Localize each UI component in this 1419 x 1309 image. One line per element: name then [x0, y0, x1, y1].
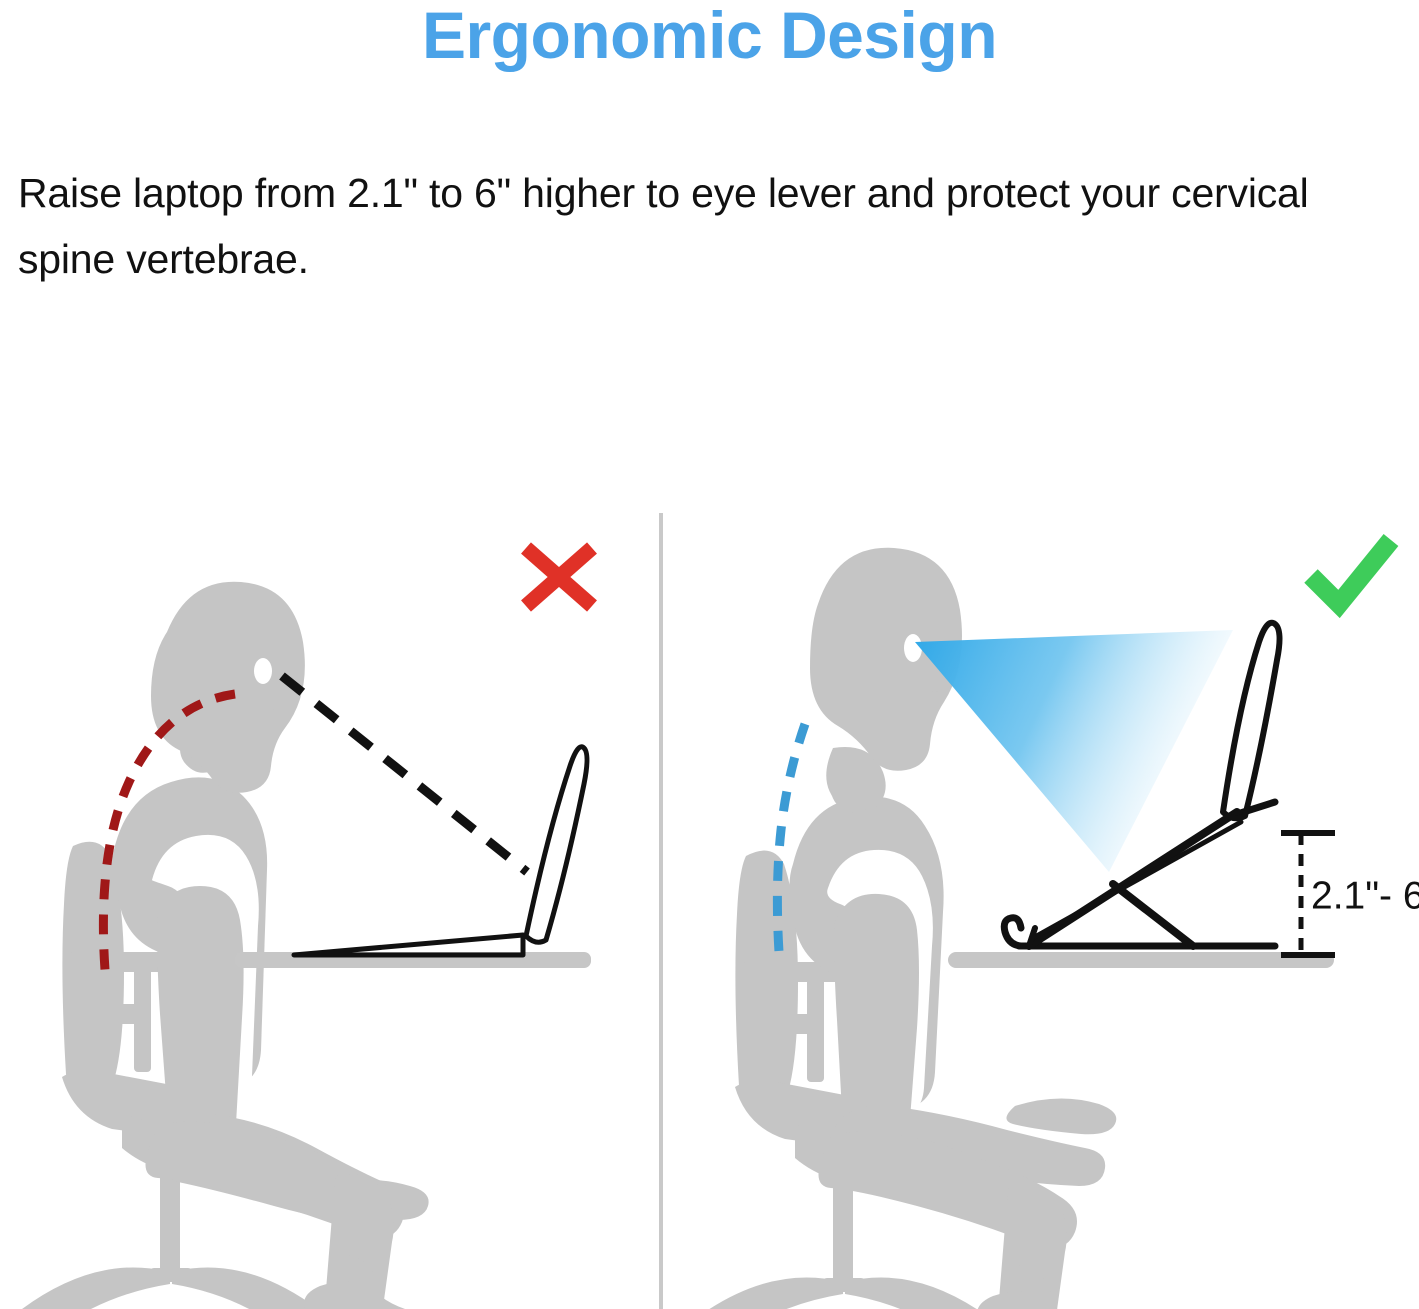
- panel-good-posture: 2.1"- 6": [663, 512, 1419, 1309]
- panel-bad-posture: [0, 512, 659, 1309]
- good-posture-illustration: 2.1"- 6": [663, 512, 1419, 1309]
- page-title: Ergonomic Design: [0, 2, 1419, 68]
- dimension-label: 2.1"- 6": [1311, 874, 1419, 917]
- bad-posture-illustration: [0, 512, 659, 1309]
- eye-bad: [254, 658, 272, 684]
- cross-icon: [514, 536, 604, 618]
- vision-cone: [915, 630, 1233, 872]
- description-text: Raise laptop from 2.1" to 6" higher to e…: [18, 160, 1398, 293]
- eye-good: [904, 634, 922, 662]
- ergonomic-design-infographic: Ergonomic Design Raise laptop from 2.1" …: [0, 0, 1419, 1309]
- desk-surface-good: [948, 952, 1334, 968]
- sight-line-bad: [282, 676, 527, 872]
- check-icon: [1301, 530, 1401, 622]
- figure-head-bad: [151, 582, 305, 793]
- laptop-flat-bad: [294, 747, 587, 955]
